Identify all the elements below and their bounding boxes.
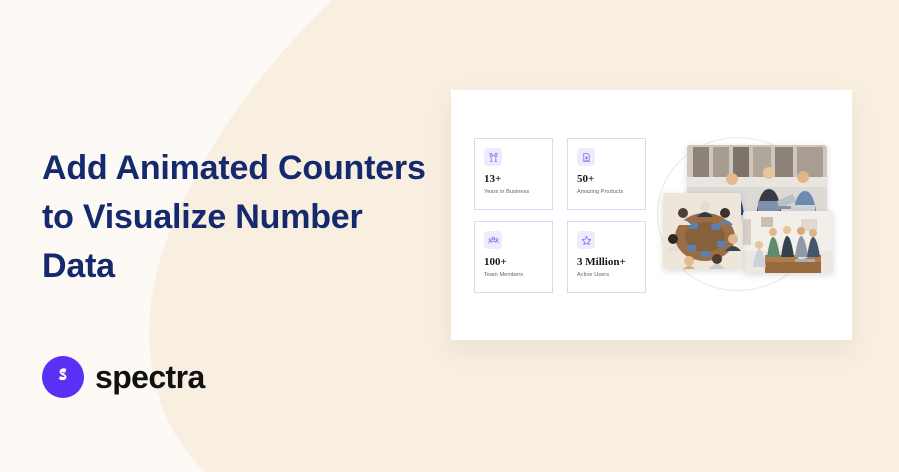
photo-office-group-discussion xyxy=(743,211,833,273)
photo-overhead-team-meeting-table xyxy=(663,193,741,269)
stat-number: 13+ xyxy=(484,174,544,185)
stat-card[interactable]: 13+ Years in Business xyxy=(474,138,553,210)
stat-label: Years in Business xyxy=(484,190,544,196)
stat-label: Active Users xyxy=(577,273,637,279)
preview-panel: 13+ Years in Business 50+ Amazing Produc… xyxy=(451,90,852,340)
stat-label: Team Members xyxy=(484,273,544,279)
document-download-icon xyxy=(577,148,595,166)
lightning-bolt-icon xyxy=(42,356,84,398)
star-icon xyxy=(577,231,595,249)
stat-card[interactable]: 100+ Team Members xyxy=(474,221,553,293)
people-group-icon xyxy=(484,231,502,249)
stat-number: 50+ xyxy=(577,174,637,185)
brand-wordmark: spectra xyxy=(95,361,205,393)
stat-card[interactable]: 3 Million+ Active Users xyxy=(567,221,646,293)
champagne-glasses-icon xyxy=(484,148,502,166)
page-title: Add Animated Counters to Visualize Numbe… xyxy=(42,144,442,291)
hero-left-column: Add Animated Counters to Visualize Numbe… xyxy=(42,0,442,472)
stat-card[interactable]: 50+ Amazing Products xyxy=(567,138,646,210)
photo-collage xyxy=(663,145,835,280)
brand-logo: spectra xyxy=(42,356,205,398)
stat-number: 100+ xyxy=(484,257,544,268)
stat-label: Amazing Products xyxy=(577,190,637,196)
counters-grid: 13+ Years in Business 50+ Amazing Produc… xyxy=(474,138,656,293)
stat-number: 3 Million+ xyxy=(577,257,637,268)
